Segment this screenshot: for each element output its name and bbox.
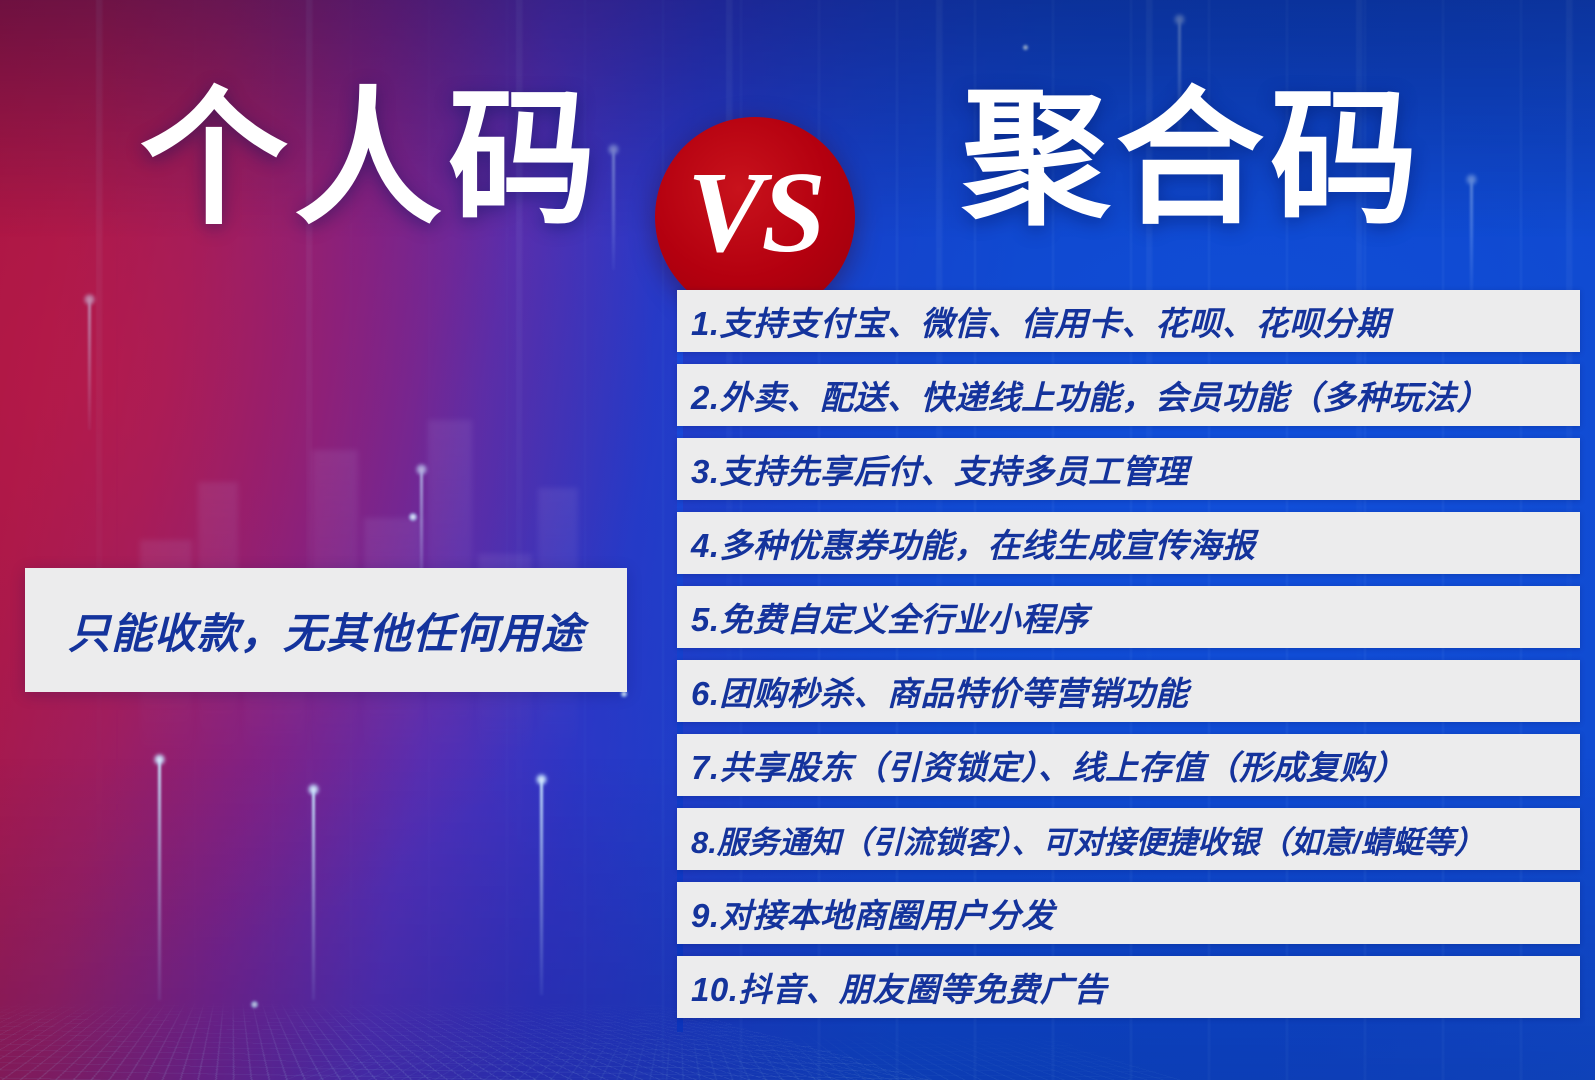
feature-text: 5.免费自定义全行业小程序	[677, 593, 1088, 641]
feature-row: 2.外卖、配送、快递线上功能，会员功能（多种玩法）	[677, 364, 1580, 426]
feature-text: 6.团购秒杀、商品特价等营销功能	[677, 667, 1189, 715]
feature-text: 9.对接本地商圈用户分发	[677, 889, 1055, 937]
feature-row: 10.抖音、朋友圈等免费广告	[677, 956, 1580, 1018]
right-title: 聚合码	[962, 62, 1424, 258]
left-callout-panel: 只能收款，无其他任何用途	[25, 568, 627, 692]
feature-row: 8.服务通知（引流锁客）、可对接便捷收银（如意/蜻蜓等）	[677, 808, 1580, 870]
feature-row: 3.支持先享后付、支持多员工管理	[677, 438, 1580, 500]
feature-row: 6.团购秒杀、商品特价等营销功能	[677, 660, 1580, 722]
feature-text: 7.共享股东（引资锁定）、线上存值（形成复购）	[677, 741, 1407, 789]
feature-text: 10.抖音、朋友圈等免费广告	[677, 963, 1107, 1011]
feature-text: 1.支持支付宝、微信、信用卡、花呗、花呗分期	[677, 297, 1390, 345]
versus-badge-label: VS	[655, 117, 855, 317]
feature-row: 1.支持支付宝、微信、信用卡、花呗、花呗分期	[677, 290, 1580, 352]
feature-row: 5.免费自定义全行业小程序	[677, 586, 1580, 648]
poster-canvas: 个人码 VS 聚合码 只能收款，无其他任何用途 1.支持支付宝、微信、信用卡、花…	[0, 0, 1595, 1080]
feature-row: 9.对接本地商圈用户分发	[677, 882, 1580, 944]
feature-text: 8.服务通知（引流锁客）、可对接便捷收银（如意/蜻蜓等）	[677, 817, 1485, 862]
feature-list: 1.支持支付宝、微信、信用卡、花呗、花呗分期 2.外卖、配送、快递线上功能，会员…	[677, 290, 1580, 1018]
feature-row: 7.共享股东（引资锁定）、线上存值（形成复购）	[677, 734, 1580, 796]
feature-text: 2.外卖、配送、快递线上功能，会员功能（多种玩法）	[677, 371, 1490, 419]
headline-block: 个人码 VS 聚合码	[0, 60, 1595, 260]
left-callout-text: 只能收款，无其他任何用途	[68, 600, 584, 661]
feature-text: 4.多种优惠券功能，在线生成宣传海报	[677, 519, 1256, 567]
left-title: 个人码	[140, 62, 602, 258]
feature-row: 4.多种优惠券功能，在线生成宣传海报	[677, 512, 1580, 574]
versus-badge: VS	[655, 117, 855, 317]
feature-text: 3.支持先享后付、支持多员工管理	[677, 445, 1189, 493]
